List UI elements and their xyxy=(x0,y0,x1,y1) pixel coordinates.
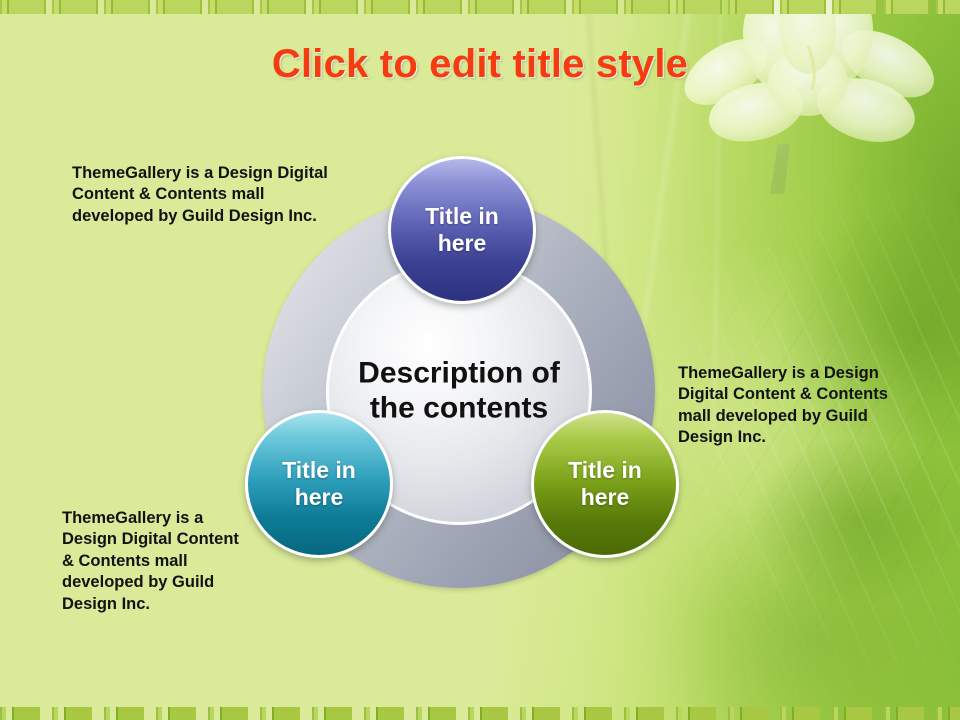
diagram-node-bottom-left[interactable]: Title in here xyxy=(245,410,393,558)
diagram-node-bottom-right-label: Title in here xyxy=(568,457,642,510)
diagram-node-top-label: Title in here xyxy=(425,203,499,256)
description-right[interactable]: ThemeGallery is a Design Digital Content… xyxy=(678,363,928,449)
diagram-node-bottom-left-label: Title in here xyxy=(282,457,356,510)
bottom-decorative-border xyxy=(0,707,960,720)
diagram-node-top[interactable]: Title in here xyxy=(388,156,536,304)
top-decorative-border xyxy=(0,0,960,14)
cycle-diagram: Description of the contents Title in her… xyxy=(263,196,655,588)
diagram-node-bottom-right[interactable]: Title in here xyxy=(531,410,679,558)
slide-canvas: Click to edit title style ThemeGallery i… xyxy=(0,0,960,720)
lotus-flower-icon xyxy=(666,0,946,194)
description-bottom-left[interactable]: ThemeGallery is a Design Digital Content… xyxy=(62,508,287,615)
page-title[interactable]: Click to edit title style xyxy=(0,42,960,87)
diagram-center-label: Description of the contents xyxy=(329,356,589,426)
